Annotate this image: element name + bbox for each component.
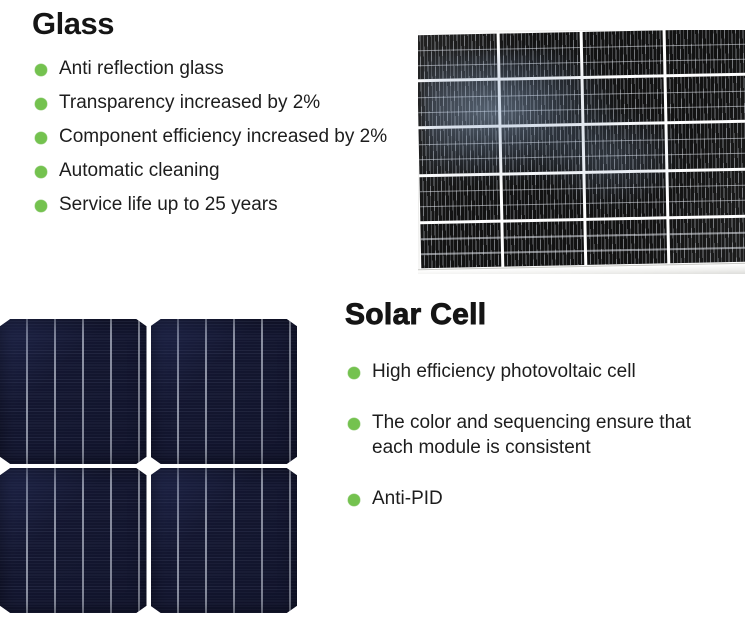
list-item: Component efficiency increased by 2% <box>32 124 424 149</box>
panel-cell <box>418 34 497 80</box>
solar-cell-feature-list: High efficiency photovoltaic cell The co… <box>345 359 737 511</box>
panel-cell <box>666 30 745 74</box>
list-item-label: Automatic cleaning <box>59 160 220 181</box>
solar-cell-section: Solar Cell High efficiency photovoltaic … <box>345 300 737 511</box>
list-item-label: Component efficiency increased by 2% <box>59 126 387 147</box>
panel-cell <box>420 222 501 268</box>
panel-cell-grid <box>418 30 745 269</box>
cell-busbar-lines <box>151 468 298 613</box>
list-item-label: Anti-PID <box>372 488 443 509</box>
panel-cell <box>667 123 745 169</box>
mono-cell <box>0 319 147 464</box>
panel-tilt-wrapper <box>418 30 745 274</box>
panel-cell <box>669 217 745 263</box>
bullet-icon <box>35 64 47 76</box>
monocrystalline-solar-cells-photo <box>0 319 297 613</box>
bullet-icon <box>35 98 47 110</box>
cell-busbar-lines <box>151 319 298 464</box>
bullet-icon <box>35 132 47 144</box>
list-item-label: The color and sequencing ensure that eac… <box>372 412 691 458</box>
panel-cell <box>584 125 665 171</box>
bullet-icon <box>348 367 360 379</box>
bullet-icon <box>348 494 360 506</box>
list-item: Anti reflection glass <box>32 56 424 81</box>
list-item-label: High efficiency photovoltaic cell <box>372 361 636 382</box>
panel-laminate <box>418 30 745 269</box>
solar-panel-module-photo <box>418 30 745 274</box>
list-item: High efficiency photovoltaic cell <box>345 359 737 384</box>
panel-cell <box>502 174 583 220</box>
glass-feature-list: Anti reflection glass Transparency incre… <box>32 56 424 217</box>
panel-cell <box>585 172 666 218</box>
list-item-label: Transparency increased by 2% <box>59 92 320 113</box>
bullet-icon <box>35 200 47 212</box>
product-feature-panel: Glass Anti reflection glass Transparency… <box>0 0 745 623</box>
panel-cell <box>418 81 498 127</box>
list-item-label: Service life up to 25 years <box>59 194 278 215</box>
panel-cell <box>586 219 667 265</box>
panel-cell <box>419 128 500 174</box>
bullet-icon <box>348 418 360 430</box>
panel-cell <box>668 170 745 216</box>
panel-cell <box>419 175 500 221</box>
list-item-label: Anti reflection glass <box>59 58 224 79</box>
panel-cell <box>584 78 665 124</box>
glass-section: Glass Anti reflection glass Transparency… <box>32 8 424 217</box>
list-item: Automatic cleaning <box>32 158 424 183</box>
list-item: Anti-PID <box>345 486 737 511</box>
panel-cell <box>500 32 581 78</box>
cell-busbar-lines <box>0 468 147 613</box>
mono-cell-grid <box>0 319 297 613</box>
glass-heading: Glass <box>32 8 424 39</box>
bullet-icon <box>35 166 47 178</box>
panel-cell <box>501 79 582 125</box>
list-item: Transparency increased by 2% <box>32 90 424 115</box>
solar-cell-heading: Solar Cell <box>345 300 737 330</box>
list-item: The color and sequencing ensure that eac… <box>345 410 737 460</box>
mono-cell <box>151 468 298 613</box>
list-item: Service life up to 25 years <box>32 192 424 217</box>
panel-cell <box>583 30 664 76</box>
panel-cell <box>667 76 745 122</box>
cell-busbar-lines <box>0 319 147 464</box>
mono-cell <box>0 468 147 613</box>
panel-cell <box>502 126 583 172</box>
panel-cell <box>503 221 584 267</box>
mono-cell <box>151 319 298 464</box>
